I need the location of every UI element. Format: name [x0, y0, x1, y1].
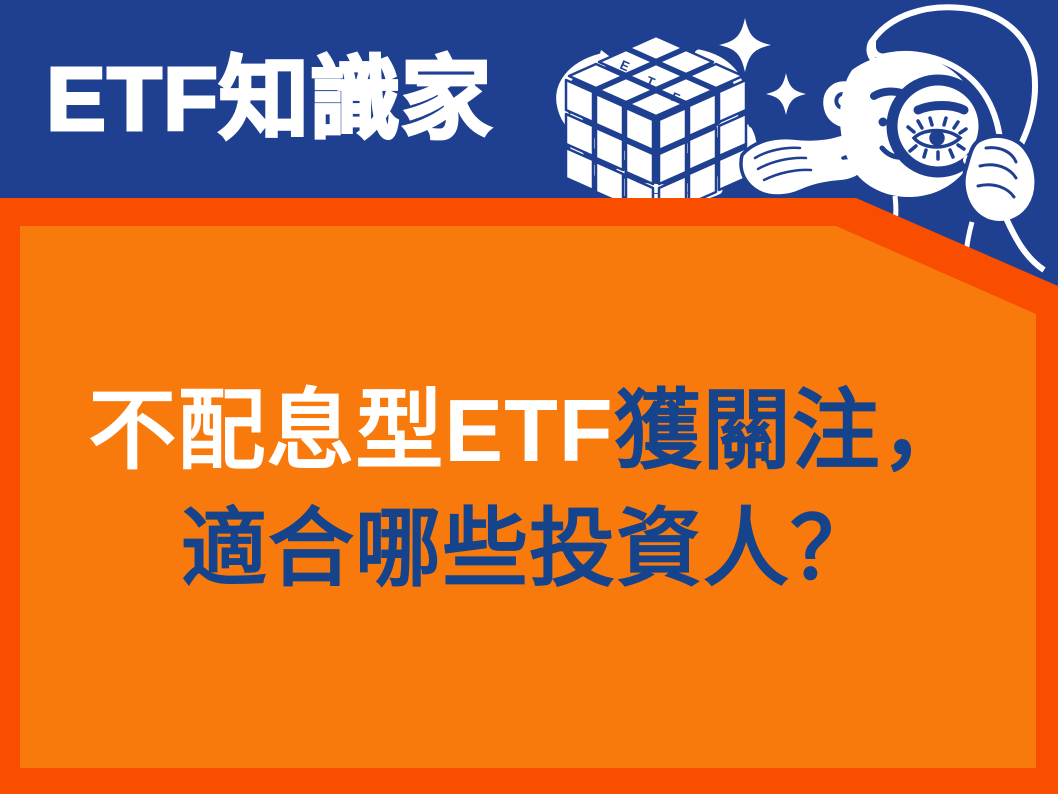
- headline-highlight: 不配息型ETF: [88, 381, 613, 480]
- brand-logo-wordmark: ETF知識家: [46, 48, 492, 153]
- headline-line-1: 不配息型ETF獲關注，: [0, 372, 1058, 490]
- headline-line1-rest: 獲關注，: [614, 381, 970, 480]
- headline-block: 不配息型ETF獲關注， 適合哪些投資人？: [0, 372, 1058, 608]
- etf-article-cover: ETF知識家: [0, 0, 1058, 794]
- headline-line-2: 適合哪些投資人？: [0, 490, 1058, 608]
